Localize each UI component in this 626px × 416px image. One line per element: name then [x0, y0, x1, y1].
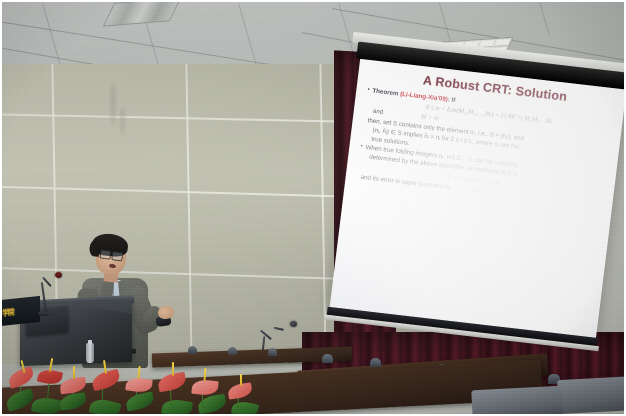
lecture-hall-scene: A Robust CRT: Solution • Theorem (Li-Lia…: [2, 2, 624, 414]
seat-armrest: [228, 347, 237, 355]
and-equation: M > 4τ: [420, 114, 439, 123]
screen-surface: A Robust CRT: Solution • Theorem (Li-Lia…: [330, 59, 624, 338]
seat-armrest: [322, 354, 333, 363]
slide-content: A Robust CRT: Solution • Theorem (Li-Lia…: [330, 59, 624, 338]
water-bottle: [86, 343, 94, 363]
photo-frame: A Robust CRT: Solution • Theorem (Li-Lia…: [0, 0, 626, 416]
institution-banner-text: 学院: [2, 306, 13, 318]
bullet-dot-2: •: [360, 144, 363, 152]
seat-back-panel: [471, 386, 562, 414]
seat-armrest: [370, 358, 381, 367]
bullet-dot: •: [367, 87, 370, 95]
podium-microphone: [38, 270, 68, 316]
error-bound: |n̂ − n| ≤ τ: [472, 186, 499, 196]
seat-back-panel: [557, 376, 624, 414]
ceiling-vent: [103, 2, 182, 27]
seat-armrest: [268, 348, 277, 356]
projection-screen: A Robust CRT: Solution • Theorem (Li-Lia…: [325, 44, 624, 373]
institution-banner: 学院: [2, 296, 40, 326]
and-label: and: [372, 108, 383, 116]
theorem-tail: : If: [447, 96, 455, 104]
theorem-label: Theorem: [372, 88, 399, 98]
seat-armrest: [188, 346, 197, 354]
